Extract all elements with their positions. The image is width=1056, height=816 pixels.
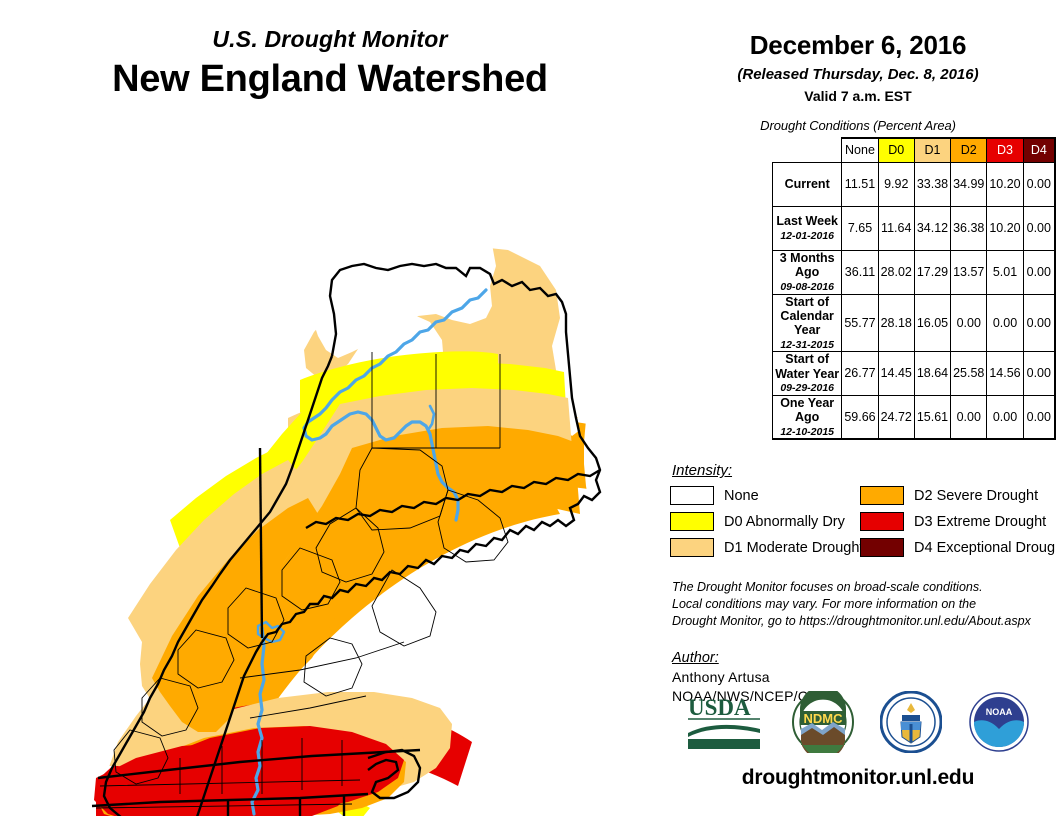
note-line-1: The Drought Monitor focuses on broad-sca… — [672, 579, 1056, 596]
cell-none: 11.51 — [842, 162, 878, 206]
cell-d1: 16.05 — [914, 294, 950, 351]
author-title: Author: — [672, 650, 1056, 666]
cell-d2: 13.57 — [951, 250, 987, 294]
drought-monitor-page: U.S. Drought Monitor New England Watersh… — [0, 0, 1056, 816]
cell-d2: 0.00 — [951, 294, 987, 351]
cell-d3: 5.01 — [987, 250, 1023, 294]
legend-row: NoneD2 Severe Drought — [670, 486, 1056, 505]
legend-label-d2: D2 Severe Drought — [914, 488, 1038, 504]
map-panel: U.S. Drought Monitor New England Watersh… — [0, 0, 660, 816]
legend-swatch-d3 — [860, 512, 904, 531]
cell-d1: 17.29 — [914, 250, 950, 294]
table-corner — [773, 138, 842, 162]
legend-item-d2[interactable]: D2 Severe Drought — [860, 486, 1050, 505]
table-header-row: NoneD0D1D2D3D4 — [773, 138, 1056, 162]
legend-swatch-d2 — [860, 486, 904, 505]
cell-d4: 0.00 — [1023, 250, 1055, 294]
valid-time: Valid 7 a.m. EST — [660, 88, 1056, 104]
column-header-none: None — [842, 138, 878, 162]
cell-d3: 0.00 — [987, 294, 1023, 351]
author-name: Anthony Artusa — [672, 669, 1056, 685]
cell-d3: 10.20 — [987, 162, 1023, 206]
cell-d1: 18.64 — [914, 351, 950, 395]
row-label: 3 Months Ago09-08-2016 — [773, 250, 842, 294]
cell-none: 59.66 — [842, 395, 878, 439]
info-panel: December 6, 2016 (Released Thursday, Dec… — [660, 0, 1056, 816]
cell-d0: 28.02 — [878, 250, 914, 294]
row-label: Start ofCalendar Year12-31-2015 — [773, 294, 842, 351]
legend-label-d1: D1 Moderate Drought — [724, 540, 863, 556]
column-header-d3: D3 — [987, 138, 1023, 162]
drought-map[interactable] — [0, 118, 660, 816]
cell-d2: 34.99 — [951, 162, 987, 206]
cell-d2: 36.38 — [951, 206, 987, 250]
cell-d0: 14.45 — [878, 351, 914, 395]
cell-d3: 10.20 — [987, 206, 1023, 250]
table-row: 3 Months Ago09-08-201636.1128.0217.2913.… — [773, 250, 1056, 294]
map-svg[interactable] — [0, 118, 660, 816]
row-label: One Year Ago12-10-2015 — [773, 395, 842, 439]
note-line-2: Local conditions may vary. For more info… — [672, 596, 1056, 613]
column-header-d2: D2 — [951, 138, 987, 162]
intensity-legend: Intensity: NoneD2 Severe DroughtD0 Abnor… — [670, 462, 1056, 557]
cell-d0: 9.92 — [878, 162, 914, 206]
legend-swatch-d1 — [670, 538, 714, 557]
website-url[interactable]: droughtmonitor.unl.edu — [660, 766, 1056, 790]
legend-row: D1 Moderate DroughtD4 Exceptional Drough… — [670, 538, 1056, 557]
table-row: Start ofWater Year09-29-201626.7714.4518… — [773, 351, 1056, 395]
legend-item-d0[interactable]: D0 Abnormally Dry — [670, 512, 860, 531]
table-row: Start ofCalendar Year12-31-201555.7728.1… — [773, 294, 1056, 351]
legend-item-none[interactable]: None — [670, 486, 860, 505]
drought-conditions-table: NoneD0D1D2D3D4Current11.519.9233.3834.99… — [772, 137, 1056, 440]
legend-label-d4: D4 Exceptional Drought — [914, 540, 1056, 556]
cell-none: 36.11 — [842, 250, 878, 294]
map-title-block: U.S. Drought Monitor New England Watersh… — [0, 0, 660, 101]
cell-d4: 0.00 — [1023, 395, 1055, 439]
usdc-logo[interactable] — [880, 691, 942, 758]
column-header-d1: D1 — [914, 138, 950, 162]
legend-swatch-d4 — [860, 538, 904, 557]
table-caption: Drought Conditions (Percent Area) — [660, 118, 1056, 133]
cell-none: 26.77 — [842, 351, 878, 395]
legend-row: D0 Abnormally DryD3 Extreme Drought — [670, 512, 1056, 531]
super-title: U.S. Drought Monitor — [0, 26, 660, 53]
legend-title: Intensity: — [672, 462, 1056, 479]
svg-text:NOAA: NOAA — [986, 707, 1013, 717]
cell-d4: 0.00 — [1023, 206, 1055, 250]
table-row: Current11.519.9233.3834.9910.200.00 — [773, 162, 1056, 206]
legend-label-d0: D0 Abnormally Dry — [724, 514, 845, 530]
logo-row: USDA NDMC — [660, 684, 1056, 764]
cell-d2: 25.58 — [951, 351, 987, 395]
legend-swatch-d0 — [670, 512, 714, 531]
cell-d0: 24.72 — [878, 395, 914, 439]
usda-logo[interactable]: USDA — [686, 693, 766, 756]
svg-text:NDMC: NDMC — [804, 711, 844, 726]
cell-d1: 34.12 — [914, 206, 950, 250]
cell-d1: 15.61 — [914, 395, 950, 439]
cell-d3: 14.56 — [987, 351, 1023, 395]
legend-label-d3: D3 Extreme Drought — [914, 514, 1046, 530]
cell-d4: 0.00 — [1023, 351, 1055, 395]
cell-d0: 28.18 — [878, 294, 914, 351]
cell-d1: 33.38 — [914, 162, 950, 206]
page-title: New England Watershed — [0, 58, 660, 101]
disclaimer-note: The Drought Monitor focuses on broad-sca… — [672, 579, 1056, 630]
row-label: Last Week12-01-2016 — [773, 206, 842, 250]
cell-d0: 11.64 — [878, 206, 914, 250]
legend-item-d4[interactable]: D4 Exceptional Drought — [860, 538, 1050, 557]
row-label: Current — [773, 162, 842, 206]
note-line-3: Drought Monitor, go to https://droughtmo… — [672, 613, 1056, 630]
column-header-d4: D4 — [1023, 138, 1055, 162]
legend-swatch-none — [670, 486, 714, 505]
legend-item-d3[interactable]: D3 Extreme Drought — [860, 512, 1050, 531]
table-row: Last Week12-01-20167.6511.6434.1236.3810… — [773, 206, 1056, 250]
date-block: December 6, 2016 (Released Thursday, Dec… — [660, 0, 1056, 104]
cell-d4: 0.00 — [1023, 162, 1055, 206]
table-row: One Year Ago12-10-201559.6624.7215.610.0… — [773, 395, 1056, 439]
release-date: (Released Thursday, Dec. 8, 2016) — [660, 66, 1056, 83]
svg-text:USDA: USDA — [688, 695, 751, 720]
cell-d3: 0.00 — [987, 395, 1023, 439]
cell-d2: 0.00 — [951, 395, 987, 439]
row-label: Start ofWater Year09-29-2016 — [773, 351, 842, 395]
cell-none: 7.65 — [842, 206, 878, 250]
cell-d4: 0.00 — [1023, 294, 1055, 351]
legend-item-d1[interactable]: D1 Moderate Drought — [670, 538, 860, 557]
column-header-d0: D0 — [878, 138, 914, 162]
noaa-logo[interactable]: NOAA — [968, 691, 1030, 758]
cell-none: 55.77 — [842, 294, 878, 351]
valid-date: December 6, 2016 — [660, 30, 1056, 61]
legend-label-none: None — [724, 488, 759, 504]
ndmc-logo[interactable]: NDMC — [792, 691, 854, 758]
